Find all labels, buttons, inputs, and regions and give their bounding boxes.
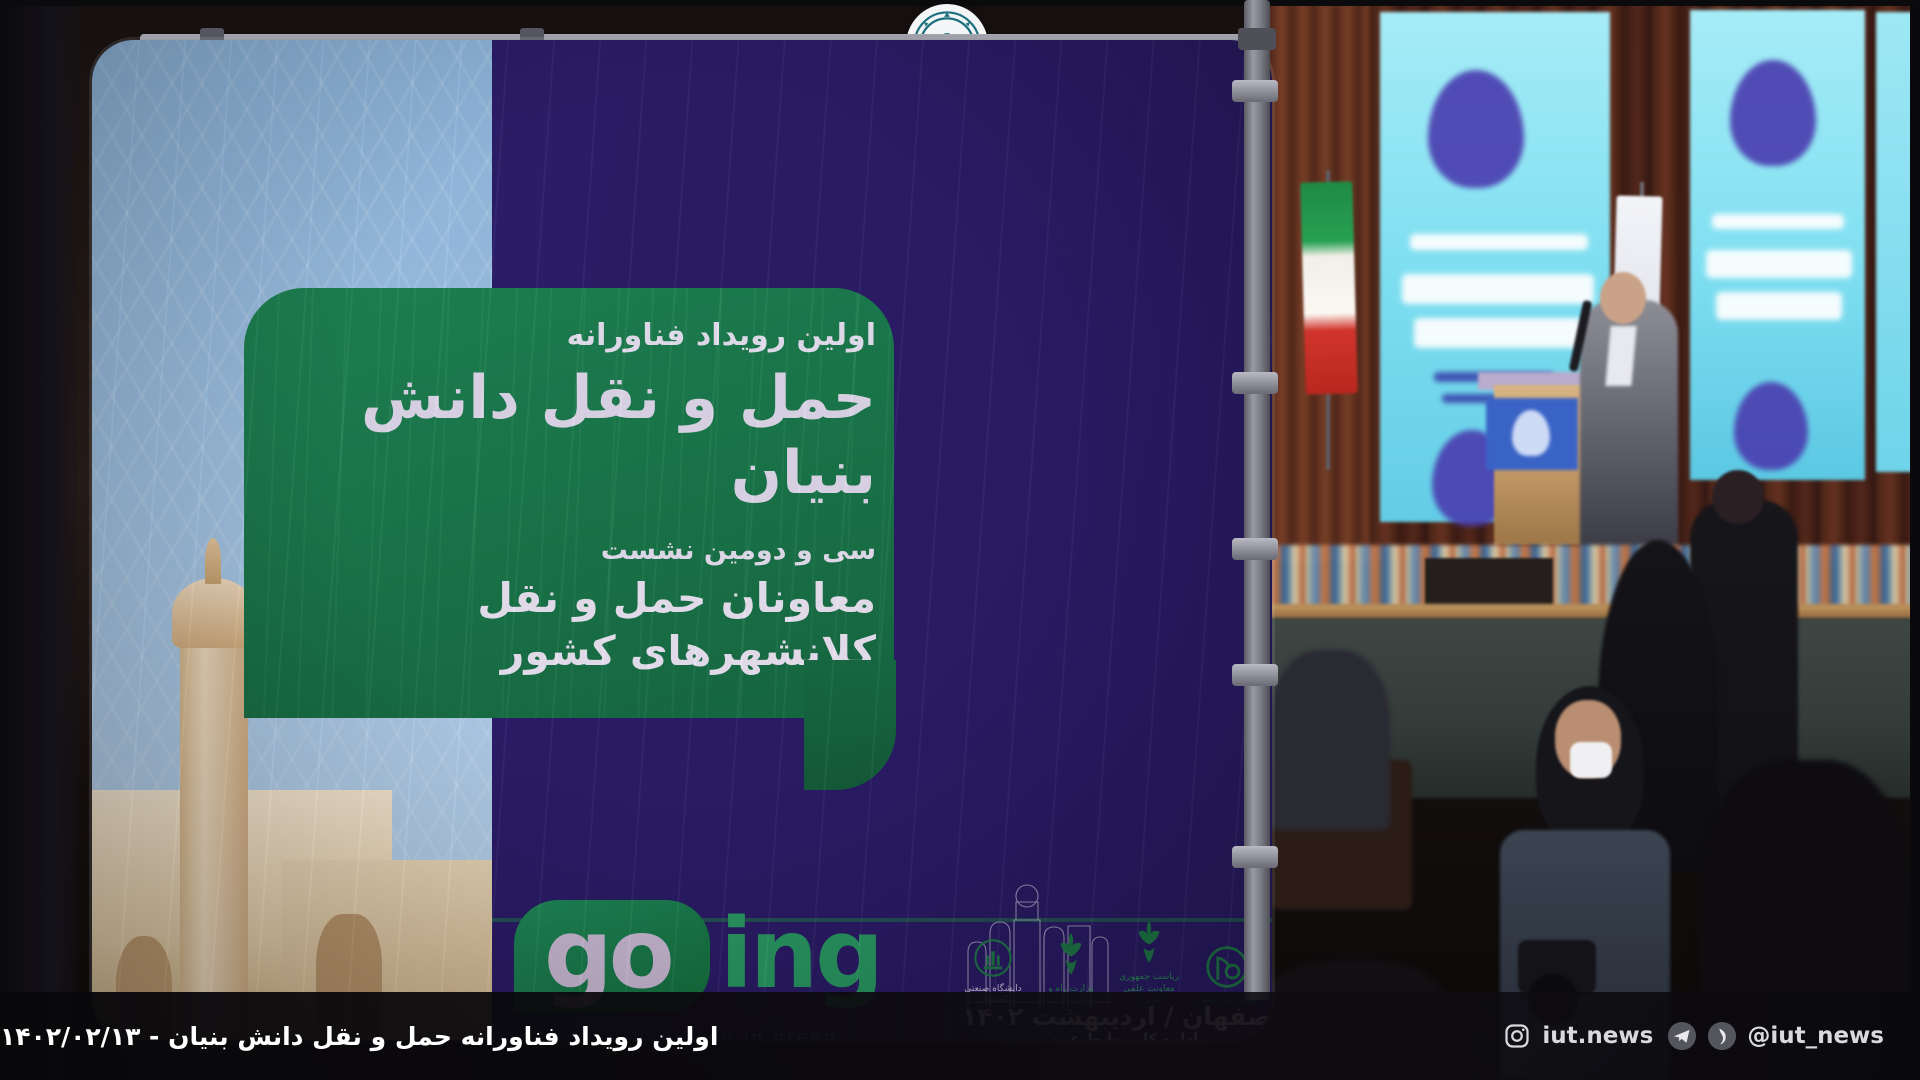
instagram-handle: iut.news	[1542, 1023, 1653, 1049]
banner-pole-clamp	[1232, 372, 1278, 394]
event-banner: اولین رویداد فناورانه حمل و نقل دانش بنی…	[92, 40, 1272, 1040]
messaging-handle: @iut_news	[1747, 1023, 1884, 1049]
speaker-shirt	[1605, 326, 1636, 386]
sponsor-logo-row: دانشگاه صنعتی اصفهان وزارت راه و شهرسازی	[960, 886, 1260, 1006]
banner-pole-clamp	[1232, 80, 1278, 102]
photo-left-shadow	[0, 0, 78, 1080]
going-logo-ing: ing	[720, 906, 881, 1002]
speaker-head	[1600, 272, 1646, 324]
banner-subhead-small: سی و دومین نشست	[276, 535, 876, 566]
sponsor-logo: ریاست جمهوری معاونت علمی فناوری	[1116, 905, 1182, 1006]
banner-pole-cap	[1238, 28, 1276, 50]
screenshot-root: جهش تولید دانش بنیان	[0, 0, 1920, 1080]
bale-icon	[1707, 1021, 1737, 1051]
standing-person-head	[1712, 470, 1764, 524]
going-logo-go: go	[544, 906, 671, 1002]
photo-right-edge	[1910, 0, 1920, 1080]
face-mask	[1570, 742, 1612, 778]
audience-silhouette	[1270, 650, 1390, 830]
speaker-cabinet	[1425, 558, 1553, 610]
banner-headline-small: اولین رویداد فناورانه	[276, 316, 876, 355]
telegram-icon	[1667, 1021, 1697, 1051]
banner-pole-clamp	[1232, 846, 1278, 868]
tiled-wall-band	[1255, 545, 1920, 607]
sponsor-ministry-icon	[1038, 917, 1104, 979]
banner-headline-panel: اولین رویداد فناورانه حمل و نقل دانش بنی…	[244, 288, 894, 718]
instagram-icon	[1502, 1021, 1532, 1051]
banner-subhead-large: معاونان حمل و نقل کلانشهرهای کشور	[276, 572, 876, 679]
sponsor-vp-science-icon	[1116, 905, 1182, 967]
instagram-link[interactable]: iut.news	[1502, 1021, 1653, 1051]
banner-pole-clamp	[1232, 664, 1278, 686]
banner-headline-large: حمل و نقل دانش بنیان	[276, 361, 876, 511]
banner-pole-clamp	[1232, 538, 1278, 560]
photo-top-edge	[0, 0, 1920, 6]
sponsor-iut-icon	[960, 917, 1026, 979]
messaging-links[interactable]: @iut_news	[1667, 1021, 1884, 1051]
social-bar: iut.news @iut_news	[1450, 992, 1920, 1080]
flag-iran	[1300, 181, 1358, 394]
stage-led-banner-2	[1690, 10, 1865, 480]
caption-text: اولین رویداد فناورانه حمل و نقل دانش بنی…	[0, 992, 1420, 1080]
podium-logo	[1512, 410, 1550, 456]
